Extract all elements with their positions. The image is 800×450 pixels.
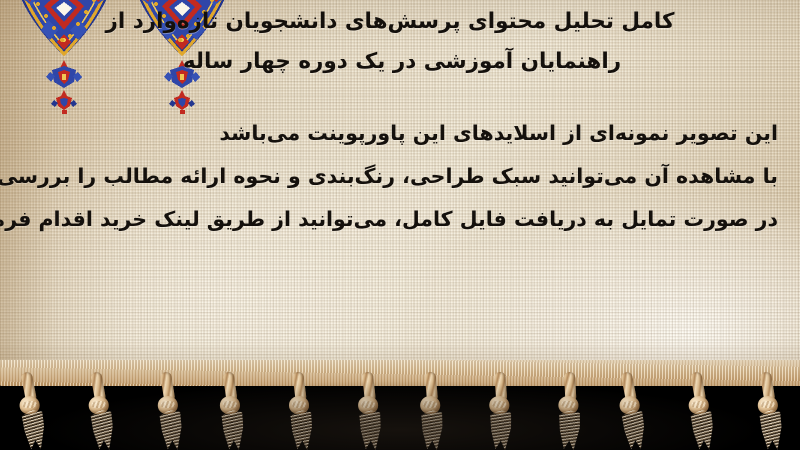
fringe-tassel bbox=[485, 371, 515, 450]
fringe-tassel-hair bbox=[556, 409, 581, 450]
fringe-tassel bbox=[685, 371, 715, 450]
slide-text-layer: کامل تحلیل محتوای پرسش‌های دانشجویان تاز… bbox=[0, 0, 800, 376]
fringe-tassel-hair bbox=[159, 410, 182, 450]
body-line-design-review: با مشاهده آن می‌توانید سبک طراحی، رنگ‌بن… bbox=[22, 155, 778, 198]
fringe-tassel-hair bbox=[290, 410, 312, 450]
fringe-tassel bbox=[218, 372, 245, 450]
slide-title-line-1: کامل تحلیل محتوای پرسش‌های دانشجویان تاز… bbox=[40, 2, 780, 42]
fringe-tassel-hair bbox=[621, 409, 646, 450]
fringe-tassel bbox=[754, 372, 783, 450]
slide-body-text: این تصویر نمونه‌ای از اسلایدهای این پاور… bbox=[22, 112, 778, 241]
fringe-tassel-hair bbox=[488, 409, 512, 450]
fringe-tassel bbox=[287, 372, 313, 450]
fringe-tassel bbox=[154, 372, 183, 450]
fringe-tassel-hair bbox=[21, 409, 46, 450]
fringe-tassel-hair bbox=[221, 410, 244, 450]
carpet-fringe bbox=[0, 360, 800, 450]
fringe-tassel-hair bbox=[759, 410, 782, 450]
fringe-tassel bbox=[417, 372, 446, 450]
body-line-purchase-link: در صورت تمایل به دریافت فایل کامل، می‌تو… bbox=[22, 198, 778, 241]
slide-title-line-2: راهنمایان آموزشی در یک دوره چهار ساله bbox=[40, 42, 780, 82]
fringe-tassel-hair bbox=[690, 409, 714, 450]
fringe-tassel-hair bbox=[420, 410, 443, 450]
fringe-selvedge-band bbox=[0, 360, 800, 386]
slide-title: کامل تحلیل محتوای پرسش‌های دانشجویان تاز… bbox=[40, 2, 780, 82]
fringe-tassel bbox=[85, 371, 115, 450]
slide-canvas: کامل تحلیل محتوای پرسش‌های دانشجویان تاز… bbox=[0, 0, 800, 450]
body-line-sample-notice: این تصویر نمونه‌ای از اسلایدهای این پاور… bbox=[22, 112, 778, 155]
fringe-tassel bbox=[553, 371, 584, 450]
fringe-tassel-hair bbox=[90, 409, 114, 450]
fringe-tassel bbox=[355, 372, 382, 450]
fringe-tassel-hair bbox=[358, 410, 381, 450]
